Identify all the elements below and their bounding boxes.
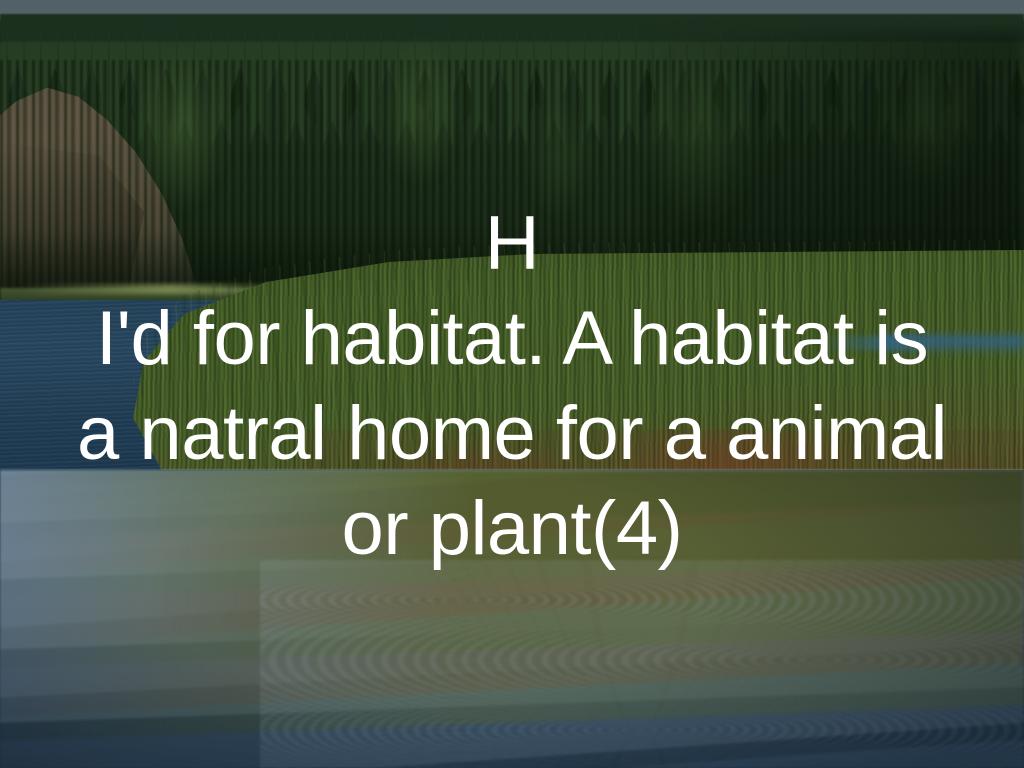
slide: H I'd for habitat. A habitat is a natral…	[0, 0, 1024, 768]
caption-line-2: I'd for habitat. A habitat is	[0, 291, 1024, 386]
caption-line-3: a natral home for a animal	[0, 386, 1024, 481]
treeline-front-silhouette	[0, 42, 1024, 146]
caption-line-4: or plant(4)	[0, 481, 1024, 576]
sky-region	[0, 0, 1024, 180]
caption-line-1: H	[0, 196, 1024, 291]
water-swirl-reflections	[260, 560, 1024, 768]
slide-caption: H I'd for habitat. A habitat is a natral…	[0, 196, 1024, 576]
treeline-fine-branches	[0, 12, 1024, 142]
treeline-back-silhouette	[0, 30, 1024, 126]
treeline-mid-silhouette	[0, 14, 1024, 132]
